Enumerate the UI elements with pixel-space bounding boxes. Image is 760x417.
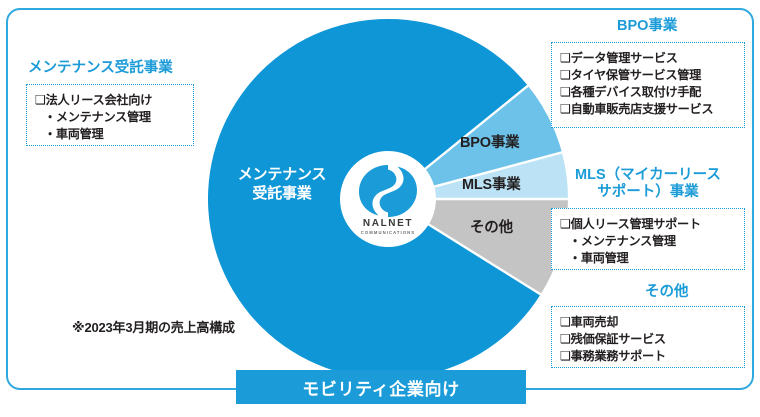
- list-item: ・メンテナンス管理: [560, 233, 736, 250]
- list-item: ・メンテナンス管理: [35, 109, 185, 126]
- logo-tagline: COMMUNICATIONS: [340, 229, 436, 236]
- list-item-text: 自動車販売店支援サービス: [571, 102, 714, 116]
- pie-label-maintenance-line1: メンテナンス: [238, 166, 327, 183]
- nalnet-logo-icon: [357, 163, 419, 219]
- list-item: ❑自動車販売店支援サービス: [560, 101, 736, 118]
- list-item-text: 車両管理: [56, 127, 104, 141]
- bullet-marker: ❑: [560, 349, 571, 363]
- list-item: ❑データ管理サービス: [560, 50, 736, 67]
- list-item-text: 各種デバイス取付け手配: [571, 85, 701, 99]
- bullet-marker: ❑: [560, 51, 571, 65]
- list-item-text: 法人リース会社向け: [46, 93, 152, 107]
- bullet-marker: ❑: [560, 315, 571, 329]
- bullet-marker: ❑: [560, 332, 571, 346]
- list-item: ❑タイヤ保管サービス管理: [560, 67, 736, 84]
- callout-list-maintenance: ❑法人リース会社向け ・メンテナンス管理 ・車両管理: [35, 92, 185, 143]
- list-item: ・車両管理: [35, 126, 185, 143]
- list-item-text: 残価保証サービス: [571, 332, 666, 346]
- callout-box-other: ❑車両売却 ❑残価保証サービス ❑事務業務サポート: [551, 306, 745, 368]
- list-item: ❑各種デバイス取付け手配: [560, 84, 736, 101]
- callout-title-maintenance: メンテナンス受託事業: [28, 60, 173, 77]
- list-item: ❑事務業務サポート: [560, 348, 736, 365]
- list-item-text: 個人リース管理サポート: [571, 217, 701, 231]
- pie-label-bpo: BPO事業: [460, 131, 519, 152]
- callout-title-other: その他: [645, 284, 689, 301]
- bullet-marker: ❑: [560, 85, 571, 99]
- pie-label-mls: MLS事業: [462, 173, 521, 194]
- list-item-text: 車両管理: [581, 251, 629, 265]
- callout-box-maintenance: ❑法人リース会社向け ・メンテナンス管理 ・車両管理: [26, 84, 194, 146]
- callout-title-mls-line1: MLS（マイカーリース: [575, 167, 721, 183]
- callout-list-mls: ❑個人リース管理サポート ・メンテナンス管理 ・車両管理: [560, 216, 736, 267]
- chart-footnote: ※2023年3月期の売上高構成: [72, 317, 235, 336]
- bullet-marker: ・: [44, 110, 56, 124]
- callout-title-bpo: BPO事業: [617, 18, 677, 35]
- bullet-marker: ❑: [560, 102, 571, 116]
- infographic-root: NALNET COMMUNICATIONS メンテナンス 受託事業 BPO事業 …: [0, 0, 760, 417]
- list-item: ❑残価保証サービス: [560, 331, 736, 348]
- bullet-marker: ❑: [560, 68, 571, 82]
- list-item: ❑個人リース管理サポート: [560, 216, 736, 233]
- callout-list-bpo: ❑データ管理サービス ❑タイヤ保管サービス管理 ❑各種デバイス取付け手配 ❑自動…: [560, 50, 736, 118]
- list-item-text: タイヤ保管サービス管理: [571, 68, 701, 82]
- list-item: ❑車両売却: [560, 314, 736, 331]
- list-item: ・車両管理: [560, 250, 736, 267]
- bullet-marker: ❑: [560, 217, 571, 231]
- list-item-text: データ管理サービス: [571, 51, 678, 65]
- callout-box-mls: ❑個人リース管理サポート ・メンテナンス管理 ・車両管理: [551, 208, 745, 270]
- callout-title-mls-line2: サポート）事業: [597, 184, 699, 200]
- logo-name: NALNET: [340, 218, 436, 229]
- bullet-marker: ・: [569, 251, 581, 265]
- bottom-banner-label: モビリティ企業向け: [302, 375, 459, 400]
- list-item-text: メンテナンス管理: [581, 234, 676, 248]
- list-item-text: 事務業務サポート: [571, 349, 666, 363]
- pie-label-other: その他: [470, 216, 513, 237]
- bullet-marker: ・: [569, 234, 581, 248]
- callout-list-other: ❑車両売却 ❑残価保証サービス ❑事務業務サポート: [560, 314, 736, 365]
- list-item-text: メンテナンス管理: [56, 110, 151, 124]
- nalnet-logo-wordmark: NALNET COMMUNICATIONS: [340, 218, 436, 236]
- bottom-banner: モビリティ企業向け: [236, 370, 526, 404]
- bullet-marker: ❑: [35, 93, 46, 107]
- pie-label-maintenance: メンテナンス 受託事業: [222, 165, 342, 203]
- list-item: ❑法人リース会社向け: [35, 92, 185, 109]
- pie-label-maintenance-line2: 受託事業: [252, 185, 311, 202]
- list-item-text: 車両売却: [571, 315, 619, 329]
- callout-box-bpo: ❑データ管理サービス ❑タイヤ保管サービス管理 ❑各種デバイス取付け手配 ❑自動…: [551, 42, 745, 128]
- callout-title-mls: MLS（マイカーリース サポート）事業: [551, 167, 745, 201]
- bullet-marker: ・: [44, 127, 56, 141]
